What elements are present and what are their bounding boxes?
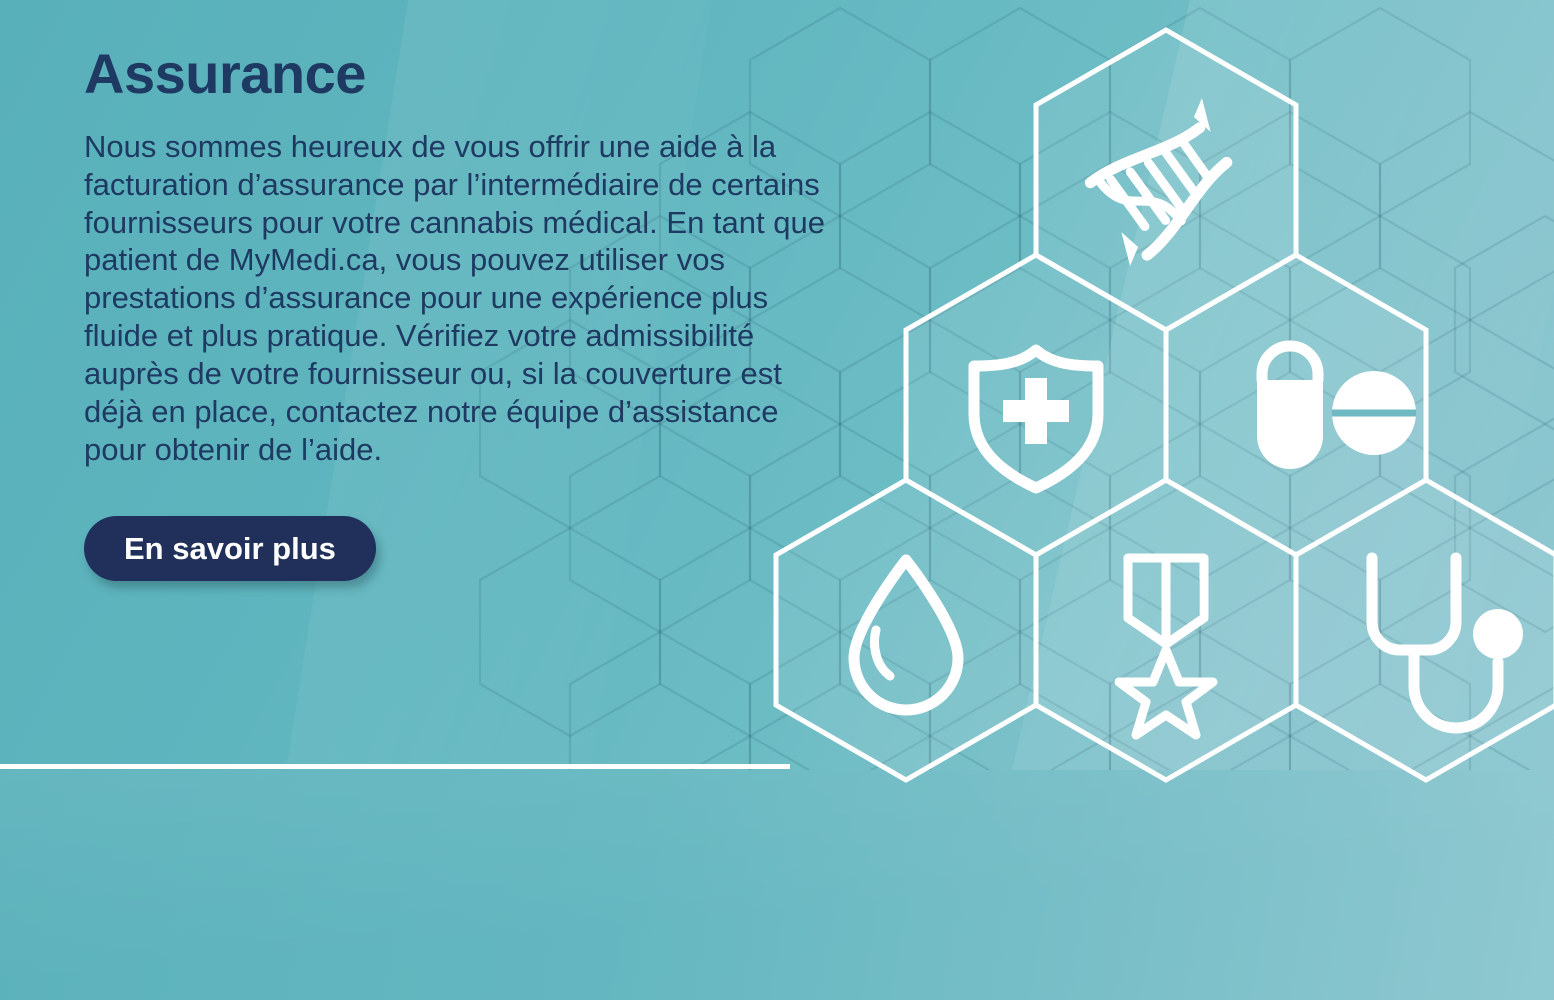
- stethoscope-icon: [1372, 558, 1523, 728]
- hexagon-middle-right: [1166, 255, 1426, 555]
- content-column: Assurance Nous sommes heureux de vous of…: [84, 46, 874, 581]
- water-droplet-icon: [854, 560, 958, 710]
- medal-star-icon: [1119, 558, 1213, 735]
- learn-more-button[interactable]: En savoir plus: [84, 516, 376, 581]
- hexagon-top-center: [1036, 30, 1296, 330]
- ground-band: [0, 770, 1554, 1000]
- shield-cross-icon: [974, 350, 1098, 488]
- hexagon-middle-left: [906, 255, 1166, 555]
- horizon-line: [0, 764, 790, 769]
- pill-capsule-icon: [1257, 346, 1416, 469]
- body-paragraph: Nous sommes heureux de vous offrir une a…: [84, 128, 844, 468]
- page-title: Assurance: [84, 46, 874, 102]
- dna-helix-icon: [1075, 96, 1258, 267]
- medical-hexagon-cluster: [756, 120, 1554, 860]
- insurance-banner: Assurance Nous sommes heureux de vous of…: [0, 0, 1554, 1000]
- hexagon-bottom-right: [1296, 480, 1554, 780]
- hexagon-bottom-center: [1036, 480, 1296, 780]
